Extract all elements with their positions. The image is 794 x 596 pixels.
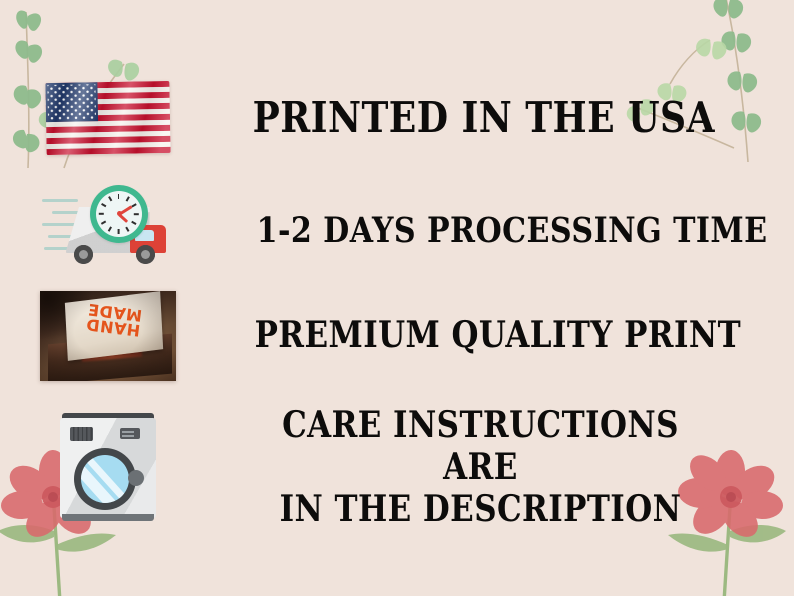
info-row-printed-in-usa: PRINTED IN THE USA xyxy=(0,62,794,174)
washer-door-glass xyxy=(81,455,129,503)
clock-tick xyxy=(118,229,120,234)
headline-printed-in-usa: PRINTED IN THE USA xyxy=(253,94,715,143)
clock-tick xyxy=(125,196,129,201)
truck-front-wheel xyxy=(136,245,155,264)
icon-cell-screen-printing: HAND MADE xyxy=(0,291,215,381)
text-cell-premium-quality: PREMIUM QUALITY PRINT xyxy=(215,315,794,357)
washer-control-panel xyxy=(120,428,140,439)
text-cell-printed-in-usa: PRINTED IN THE USA xyxy=(215,94,794,143)
washing-machine-icon xyxy=(56,410,160,526)
clock-tick xyxy=(118,194,120,199)
icon-cell-washing-machine xyxy=(0,410,215,526)
clock-tick xyxy=(134,213,139,215)
info-graphic-canvas: PRINTED IN THE USA xyxy=(0,0,794,596)
info-row-premium-quality: HAND MADE PREMIUM QUALITY PRINT xyxy=(0,284,794,388)
clock-face xyxy=(96,191,142,237)
washer-vent-panel xyxy=(70,427,93,441)
clock-tick xyxy=(108,227,112,232)
icon-cell-us-flag xyxy=(0,82,215,154)
clock-tick xyxy=(101,221,106,225)
flag-wave-shading xyxy=(45,81,170,155)
info-row-processing-time: 1-2 DAYS PROCESSING TIME xyxy=(0,178,794,284)
headline-care-line-2: IN THE DESCRIPTION xyxy=(280,488,682,530)
fast-delivery-truck-clock-icon xyxy=(42,185,174,277)
washer-door-knob xyxy=(128,470,144,486)
headline-processing-time: 1-2 DAYS PROCESSING TIME xyxy=(257,211,768,252)
clock-center-pin xyxy=(117,211,122,216)
headline-care-instructions: CARE INSTRUCTIONS ARE IN THE DESCRIPTION xyxy=(252,405,709,530)
screen-printing-photo: HAND MADE xyxy=(40,291,176,381)
icon-cell-fast-delivery xyxy=(0,185,215,277)
speed-line xyxy=(44,247,70,250)
text-cell-processing-time: 1-2 DAYS PROCESSING TIME xyxy=(215,211,794,252)
us-flag-icon xyxy=(45,81,170,155)
washer-base xyxy=(62,514,154,521)
text-cell-care-instructions: CARE INSTRUCTIONS ARE IN THE DESCRIPTION xyxy=(215,405,794,530)
clock-tick xyxy=(99,213,104,215)
truck-rear-wheel xyxy=(74,245,93,264)
speed-line xyxy=(42,199,78,202)
clock-tick xyxy=(108,196,112,201)
photo-vignette xyxy=(40,291,176,381)
clock-tick xyxy=(101,203,106,207)
clock-tick xyxy=(131,221,136,225)
headline-care-line-1: CARE INSTRUCTIONS ARE xyxy=(282,404,679,488)
clock-icon xyxy=(90,185,148,243)
info-row-care-instructions: CARE INSTRUCTIONS ARE IN THE DESCRIPTION xyxy=(0,388,794,548)
clock-tick xyxy=(125,227,129,232)
headline-premium-quality: PREMIUM QUALITY PRINT xyxy=(255,315,741,357)
